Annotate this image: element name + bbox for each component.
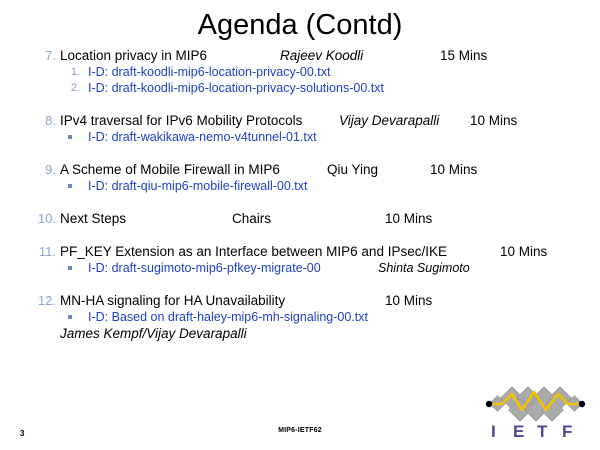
agenda-item-title: IPv4 traversal for IPv6 Mobility Protoco… xyxy=(60,112,302,129)
agenda-subitem-number: 1. xyxy=(62,64,80,80)
agenda-list: 7.Location privacy in MIP6Rajeev Koodli1… xyxy=(0,47,600,342)
square-bullet-icon xyxy=(68,315,72,319)
square-bullet-icon xyxy=(68,135,72,139)
agenda-item-duration: 10 Mins xyxy=(470,112,517,129)
ietf-logo: I E T F xyxy=(482,384,590,442)
svg-text:F: F xyxy=(562,422,572,441)
agenda-item-title: Location privacy in MIP6 xyxy=(60,47,207,64)
agenda-item-number: 8. xyxy=(30,112,56,129)
agenda-item-number: 12. xyxy=(30,292,56,309)
svg-text:I: I xyxy=(491,422,496,441)
agenda-item-row: 11.PF_KEY Extension as an Interface betw… xyxy=(0,243,600,260)
agenda-item-presenter: Qiu Ying xyxy=(327,161,378,178)
square-bullet-icon xyxy=(68,266,72,270)
agenda-item: 9.A Scheme of Mobile Firewall in MIP6Qiu… xyxy=(0,161,600,194)
agenda-item-duration: 10 Mins xyxy=(500,243,547,260)
agenda-item-duration: 10 Mins xyxy=(385,210,432,227)
square-bullet-icon xyxy=(68,184,72,188)
slide: Agenda (Contd) 7.Location privacy in MIP… xyxy=(0,0,600,450)
agenda-item-title: MN-HA signaling for HA Unavailability xyxy=(60,292,285,309)
page-title: Agenda (Contd) xyxy=(0,8,600,42)
agenda-item-presenter: Chairs xyxy=(232,210,271,227)
agenda-item: 12.MN-HA signaling for HA Unavailability… xyxy=(0,292,600,342)
agenda-subitem-draft-link[interactable]: I-D: draft-koodli-mip6-location-privacy-… xyxy=(88,64,330,80)
agenda-item-row: 8.IPv4 traversal for IPv6 Mobility Proto… xyxy=(0,112,600,129)
agenda-subitem-draft-link[interactable]: I-D: draft-sugimoto-mip6-pfkey-migrate-0… xyxy=(88,260,321,276)
svg-text:E: E xyxy=(513,422,524,441)
agenda-item-row: 9.A Scheme of Mobile Firewall in MIP6Qiu… xyxy=(0,161,600,178)
agenda-subitem-row: I-D: draft-qiu-mip6-mobile-firewall-00.t… xyxy=(0,178,600,194)
agenda-subitem-draft-link[interactable]: I-D: draft-koodli-mip6-location-privacy-… xyxy=(88,80,384,96)
agenda-subitem-row: I-D: draft-sugimoto-mip6-pfkey-migrate-0… xyxy=(0,260,600,276)
agenda-subitem-number: 2. xyxy=(62,80,80,96)
agenda-item-number: 11. xyxy=(30,243,56,260)
agenda-subitem-row: 1.I-D: draft-koodli-mip6-location-privac… xyxy=(0,64,600,80)
logo-letters: I E T F xyxy=(491,422,572,441)
agenda-item-number: 10. xyxy=(30,210,56,227)
agenda-item-duration: 10 Mins xyxy=(385,292,432,309)
agenda-item-title: PF_KEY Extension as an Interface between… xyxy=(60,243,447,260)
agenda-item: 8.IPv4 traversal for IPv6 Mobility Proto… xyxy=(0,112,600,145)
agenda-item: 11.PF_KEY Extension as an Interface betw… xyxy=(0,243,600,276)
agenda-item-title: Next Steps xyxy=(60,210,126,227)
agenda-item: 10.Next StepsChairs10 Mins xyxy=(0,210,600,227)
agenda-subitem-draft-link[interactable]: I-D: Based on draft-haley-mip6-mh-signal… xyxy=(88,309,368,325)
agenda-item-trailing-line: James Kempf/Vijay Devarapalli xyxy=(0,325,600,342)
svg-text:T: T xyxy=(537,422,548,441)
agenda-item-row: 10.Next StepsChairs10 Mins xyxy=(0,210,600,227)
agenda-item-row: 12.MN-HA signaling for HA Unavailability… xyxy=(0,292,600,309)
agenda-item-number: 7. xyxy=(30,47,56,64)
agenda-item: 7.Location privacy in MIP6Rajeev Koodli1… xyxy=(0,47,600,96)
agenda-item-duration: 10 Mins xyxy=(430,161,477,178)
agenda-item-presenter: Vijay Devarapalli xyxy=(339,112,439,129)
agenda-subitem-row: I-D: draft-wakikawa-nemo-v4tunnel-01.txt xyxy=(0,129,600,145)
agenda-item-trailing-text: James Kempf/Vijay Devarapalli xyxy=(60,325,247,342)
agenda-item-row: 7.Location privacy in MIP6Rajeev Koodli1… xyxy=(0,47,600,64)
agenda-subitem-row: 2.I-D: draft-koodli-mip6-location-privac… xyxy=(0,80,600,96)
agenda-item-presenter: Rajeev Koodli xyxy=(280,47,363,64)
agenda-subitem-row: I-D: Based on draft-haley-mip6-mh-signal… xyxy=(0,309,600,325)
agenda-subitem-draft-link[interactable]: I-D: draft-qiu-mip6-mobile-firewall-00.t… xyxy=(88,178,308,194)
agenda-item-number: 9. xyxy=(30,161,56,178)
agenda-subitem-author: Shinta Sugimoto xyxy=(378,260,470,276)
agenda-item-title: A Scheme of Mobile Firewall in MIP6 xyxy=(60,161,280,178)
agenda-subitem-draft-link[interactable]: I-D: draft-wakikawa-nemo-v4tunnel-01.txt xyxy=(88,129,317,145)
agenda-item-duration: 15 Mins xyxy=(440,47,487,64)
